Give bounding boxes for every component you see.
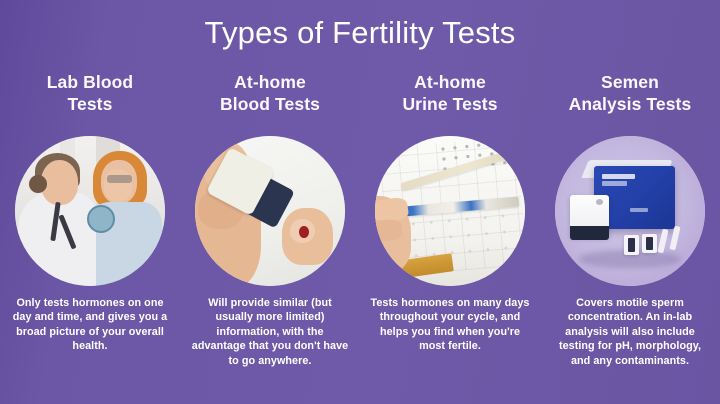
urine-test-strips-calendar-illustration [375, 136, 525, 286]
page-title: Types of Fertility Tests [0, 14, 720, 52]
fertility-tests-infographic: Types of Fertility Tests Lab BloodTests … [0, 0, 720, 404]
test-type-columns: Lab BloodTests Only tests hormones on on… [0, 68, 720, 404]
test-type-column-semen-analysis-tests: SemenAnalysis Tests Covers motile sperm … [540, 68, 720, 404]
at-home-urine-tests-image [375, 136, 525, 286]
finger-prick-lancet-illustration [195, 136, 345, 286]
at-home-blood-tests-image [195, 136, 345, 286]
test-type-column-at-home-urine-tests: At-homeUrine Tests Tests hormones on man… [360, 68, 540, 404]
column-heading: SemenAnalysis Tests [547, 71, 713, 119]
column-caption: Tests hormones on many days throughout y… [368, 296, 532, 354]
test-type-column-lab-blood-tests: Lab BloodTests Only tests hormones on on… [0, 68, 180, 404]
column-caption: Will provide similar (but usually more l… [188, 296, 352, 368]
column-caption: Only tests hormones on one day and time,… [8, 296, 172, 354]
semen-analysis-tests-image [555, 136, 705, 286]
test-type-column-at-home-blood-tests: At-homeBlood Tests Will provide similar … [180, 68, 360, 404]
lab-blood-tests-image [15, 136, 165, 286]
doctor-patient-stethoscope-illustration [15, 136, 165, 286]
semen-analysis-kit-illustration [555, 136, 705, 286]
column-heading: At-homeUrine Tests [367, 71, 533, 119]
column-caption: Covers motile sperm concentration. An in… [548, 296, 712, 368]
column-heading: At-homeBlood Tests [187, 71, 353, 119]
column-heading: Lab BloodTests [7, 71, 173, 119]
